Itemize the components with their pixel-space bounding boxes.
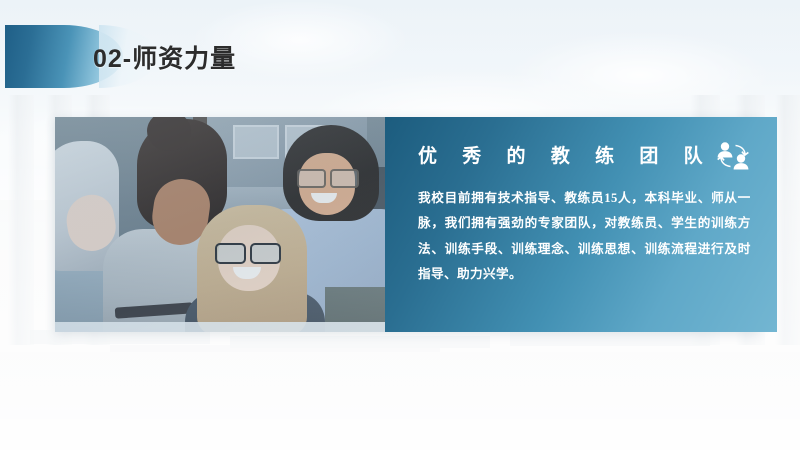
page-title: 02-师资力量 [93, 39, 236, 75]
team-exchange-icon [715, 140, 751, 172]
slide: 02-师资力量 [0, 0, 800, 450]
panel-heading-row: 优 秀 的 教 练 团 队 [418, 140, 751, 172]
team-photo [55, 117, 385, 332]
photo-blue-tint-overlay [55, 117, 385, 332]
content-card: 优 秀 的 教 练 团 队 我校目前拥有技术指导、教练员15人 [55, 117, 760, 332]
panel-body-text: 我校目前拥有技术指导、教练员15人，本科毕业、师从一脉，我们拥有强劲的专家团队，… [418, 186, 751, 288]
text-panel: 优 秀 的 教 练 团 队 我校目前拥有技术指导、教练员15人 [385, 117, 777, 332]
panel-heading-text: 优 秀 的 教 练 团 队 [418, 147, 713, 166]
